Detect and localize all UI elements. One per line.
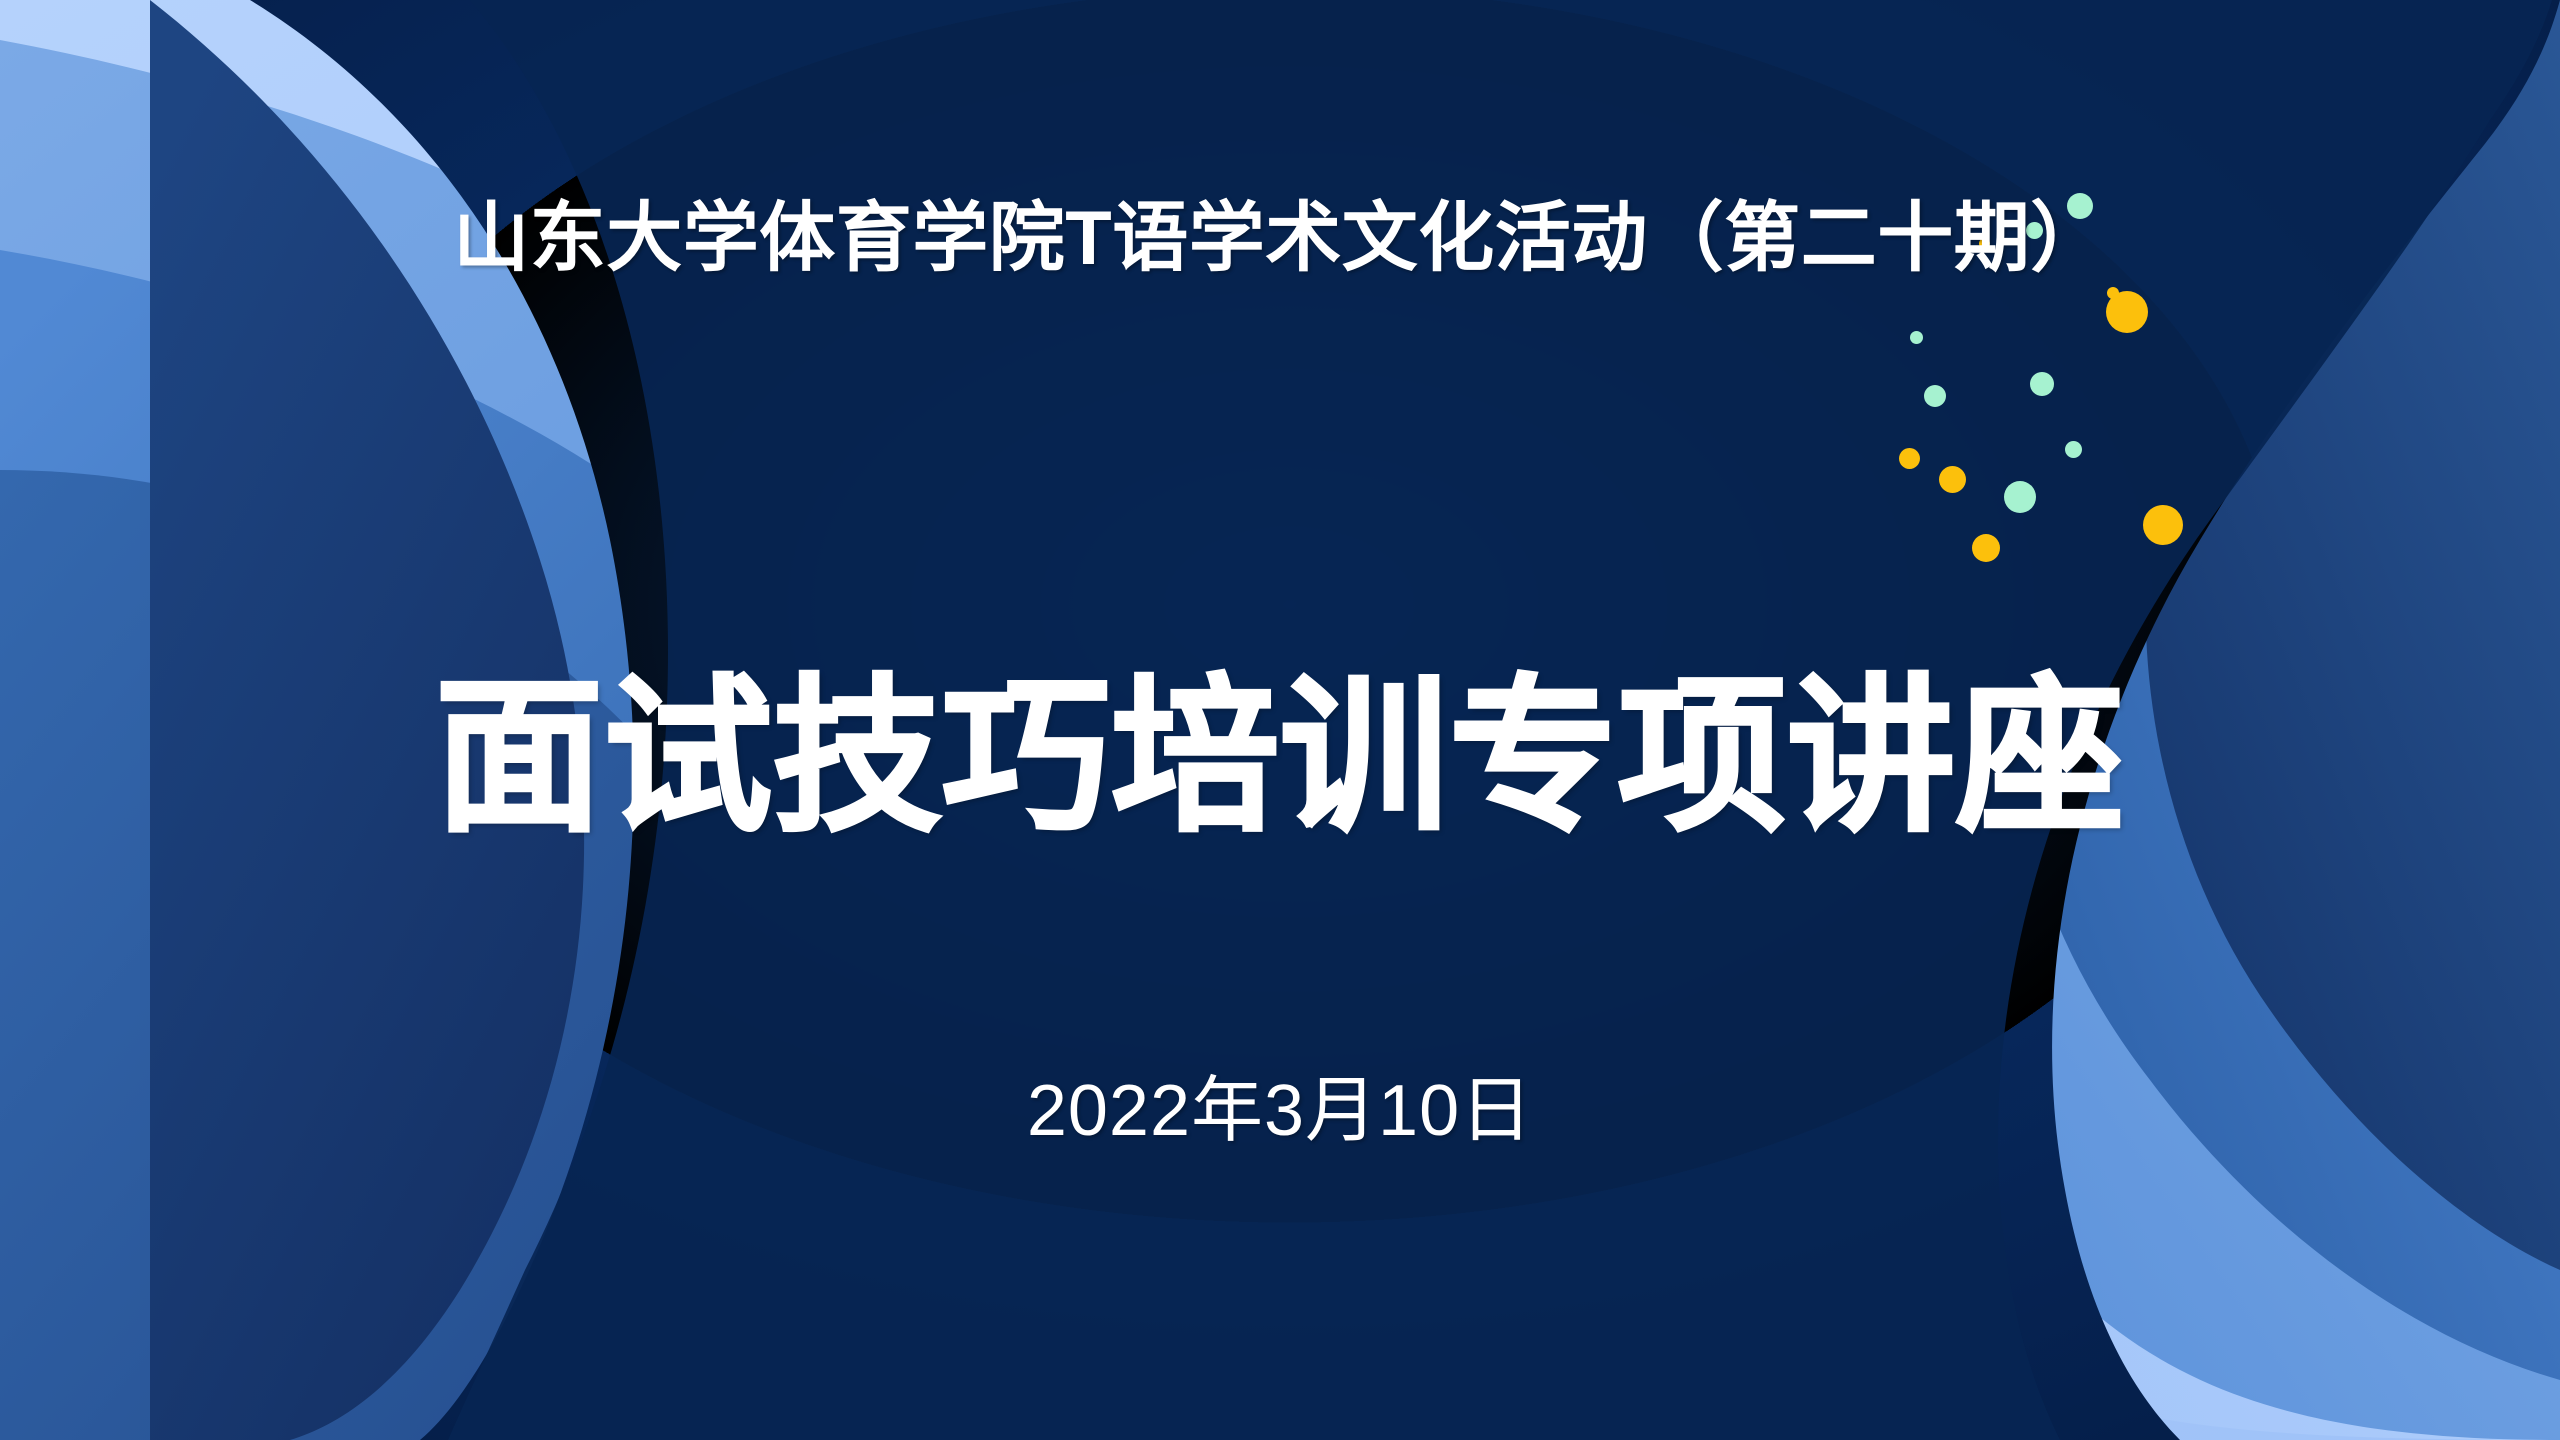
slide-content: 山东大学体育学院T语学术文化活动（第二十期） 面试技巧培训专项讲座 2022年3…: [0, 0, 2560, 1440]
event-date: 2022年3月10日: [0, 1068, 2560, 1154]
event-series-subtitle: 山东大学体育学院T语学术文化活动（第二十期）: [0, 196, 2560, 281]
page-title: 面试技巧培训专项讲座: [0, 661, 2560, 854]
title-slide: 山东大学体育学院T语学术文化活动（第二十期） 面试技巧培训专项讲座 2022年3…: [0, 0, 2560, 1440]
